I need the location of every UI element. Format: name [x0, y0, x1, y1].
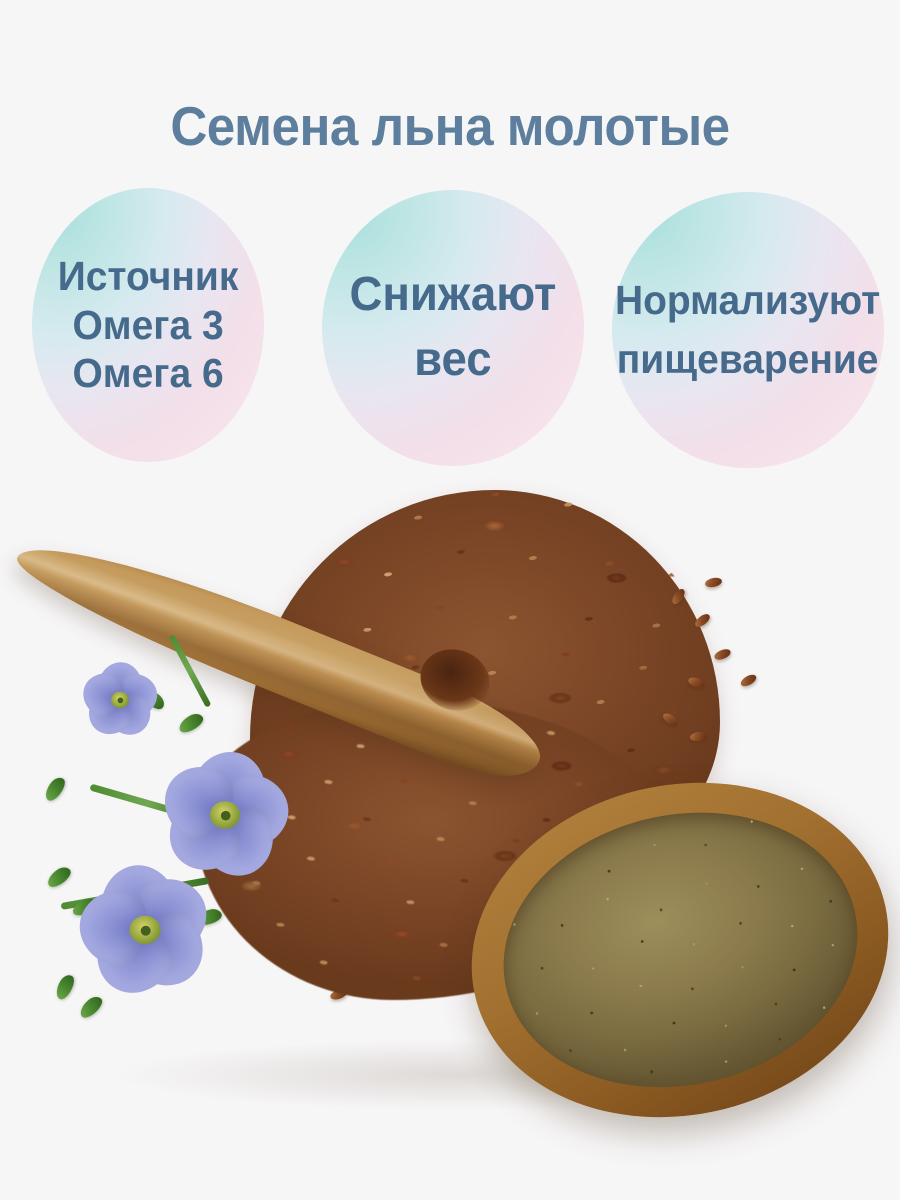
flower-bud [41, 774, 68, 803]
benefit-circle-weight: Снижают вес [322, 190, 584, 466]
flax-flower [79, 659, 161, 741]
flower-center [129, 916, 160, 944]
product-card: Семена льна молотые Источник Омега 3 Оме… [0, 0, 900, 1200]
flower-bud [44, 864, 73, 890]
flax-flower [74, 859, 216, 1001]
flower-bud [176, 711, 206, 736]
page-title: Семена льна молотые [32, 96, 869, 156]
benefit-circle-digestion: Нормализуют пищеварение [612, 192, 884, 468]
benefit-label-omega: Источник Омега 3 Омега 6 [58, 252, 239, 397]
product-photo [0, 470, 900, 1200]
benefit-label-digestion: Нормализуют пищеварение [615, 271, 880, 390]
benefit-circle-omega: Источник Омега 3 Омега 6 [32, 188, 264, 462]
scattered-seed [704, 576, 722, 588]
scattered-seed [739, 672, 758, 688]
benefit-label-weight: Снижают вес [350, 263, 557, 393]
flower-center [111, 692, 129, 708]
flower-center [210, 801, 240, 829]
scattered-seed [713, 647, 732, 662]
